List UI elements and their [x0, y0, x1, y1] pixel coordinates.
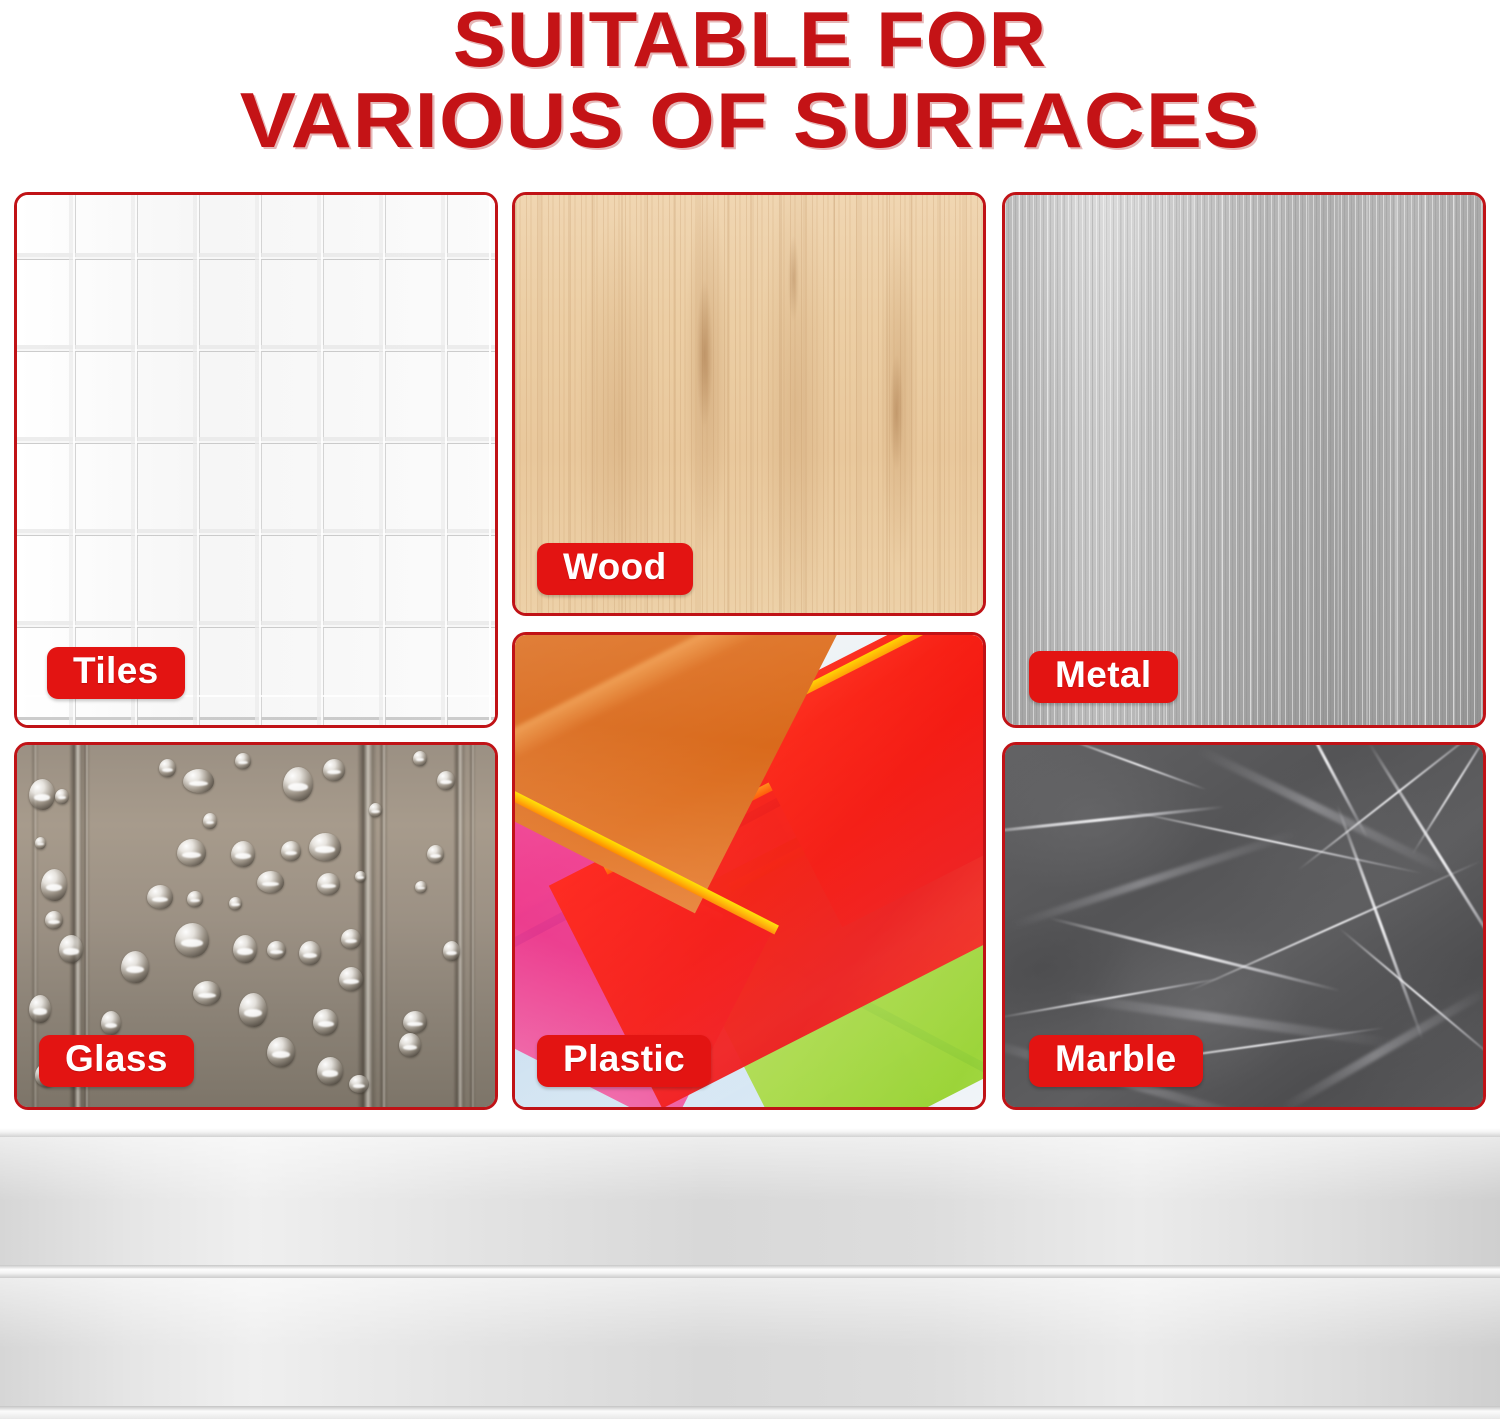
title-line-1: SUITABLE FOR: [0, 2, 1500, 77]
surface-card-glass[interactable]: Glass: [14, 742, 498, 1110]
bottom-surface-gloss-upper: [0, 1137, 1500, 1201]
bottom-surface-gloss-lower: [0, 1278, 1500, 1348]
title-line-2: VARIOUS OF SURFACES: [0, 83, 1500, 158]
surface-card-metal[interactable]: Metal: [1002, 192, 1486, 728]
surface-card-wood[interactable]: Wood: [512, 192, 986, 616]
bottom-surface-edge-top: [0, 1128, 1500, 1137]
bottom-surface-seam: [0, 1265, 1500, 1278]
surface-label-metal: Metal: [1029, 651, 1178, 703]
infographic-page: SUITABLE FOR VARIOUS OF SURFACES Tiles W…: [0, 0, 1500, 1419]
bottom-surface-edge-bottom: [0, 1406, 1500, 1419]
metal-texture: [1005, 195, 1483, 725]
page-title: SUITABLE FOR VARIOUS OF SURFACES: [0, 2, 1500, 158]
surface-card-tiles[interactable]: Tiles: [14, 192, 498, 728]
surface-label-tiles: Tiles: [47, 647, 185, 699]
surface-label-marble: Marble: [1029, 1035, 1203, 1087]
surface-label-glass: Glass: [39, 1035, 194, 1087]
surface-card-marble[interactable]: Marble: [1002, 742, 1486, 1110]
surface-label-plastic: Plastic: [537, 1035, 711, 1087]
tiles-texture: [17, 195, 495, 725]
surface-card-plastic[interactable]: Plastic: [512, 632, 986, 1110]
surface-label-wood: Wood: [537, 543, 693, 595]
bottom-surface-panel: [0, 1128, 1500, 1419]
